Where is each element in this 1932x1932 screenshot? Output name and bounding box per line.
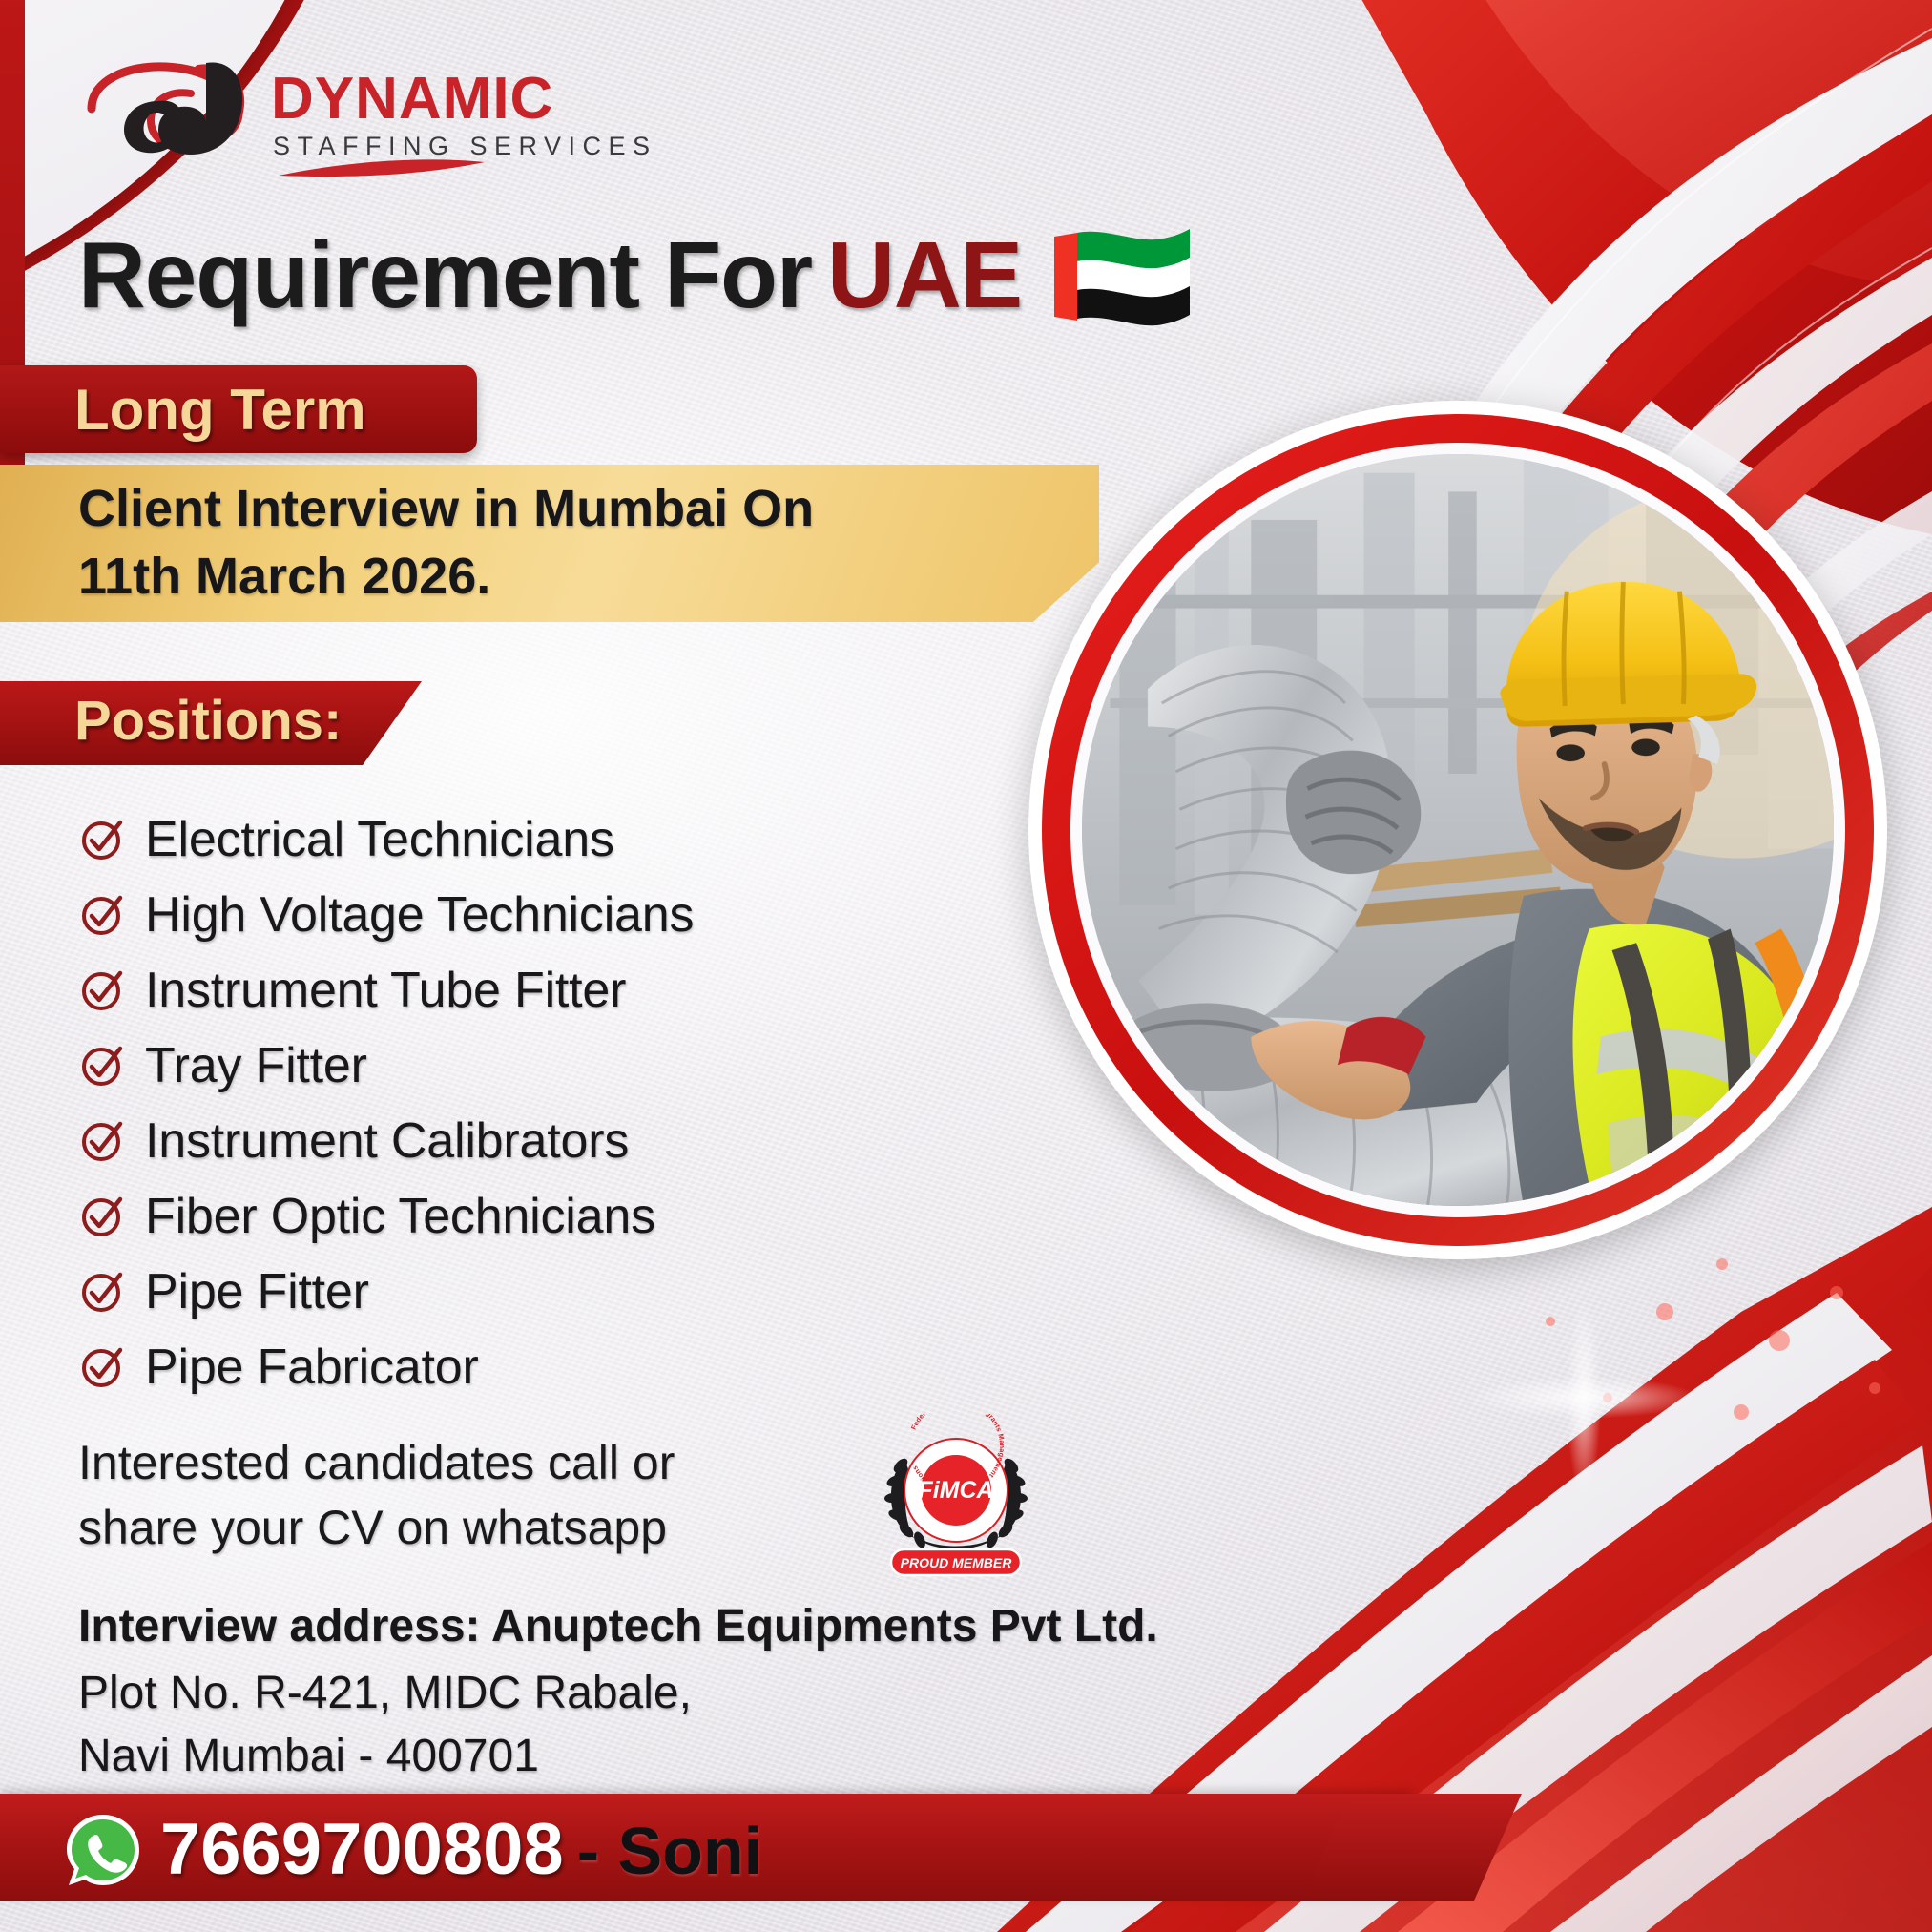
long-term-badge: Long Term	[0, 365, 477, 453]
list-item: Pipe Fitter	[80, 1254, 882, 1329]
circle-check-icon	[80, 1270, 124, 1314]
recruitment-poster: DYNAMIC STAFFING SERVICES Requirement Fo…	[0, 0, 1932, 1932]
circle-check-icon	[80, 1345, 124, 1389]
positions-list: Electrical Technicians High Voltage Tech…	[80, 801, 882, 1404]
position-label: Electrical Technicians	[145, 811, 614, 868]
uae-flag-icon	[1045, 225, 1190, 326]
position-label: Fiber Optic Technicians	[145, 1188, 655, 1245]
position-label: Instrument Tube Fitter	[145, 962, 626, 1019]
long-term-label: Long Term	[0, 377, 366, 443]
contact-person: - Soni	[577, 1813, 762, 1889]
positions-header-label: Positions:	[74, 689, 342, 753]
list-item: High Voltage Technicians	[80, 877, 882, 952]
list-item: Electrical Technicians	[80, 801, 882, 877]
position-label: Tray Fitter	[145, 1037, 367, 1094]
interview-line-1: Client Interview in Mumbai On	[78, 475, 1032, 543]
circle-check-icon	[80, 1044, 124, 1088]
interview-banner-text: Client Interview in Mumbai On 11th March…	[78, 475, 1032, 612]
fimca-proud-member-badge: Federation of Indian Emigrants Managemen…	[870, 1414, 1042, 1586]
headline-prefix: Requirement For	[78, 221, 812, 329]
interview-line-2: 11th March 2026.	[78, 543, 1032, 611]
circle-check-icon	[80, 893, 124, 937]
page-title: Requirement For UAE	[78, 221, 1190, 329]
call-to-action: Interested candidates call or share your…	[78, 1431, 861, 1560]
position-label: Instrument Calibrators	[145, 1112, 629, 1170]
list-item: Pipe Fabricator	[80, 1329, 882, 1404]
interview-address: Interview address: Anuptech Equipments P…	[78, 1595, 1319, 1789]
logo-monogram-icon	[92, 62, 242, 155]
fimca-acronym: FiMCA	[918, 1477, 993, 1504]
circle-check-icon	[80, 1119, 124, 1163]
list-item: Fiber Optic Technicians	[80, 1178, 882, 1254]
fimca-ribbon-text: PROUD MEMBER	[901, 1555, 1013, 1570]
worker-photo	[1082, 454, 1834, 1206]
headline-country: UAE	[827, 221, 1022, 329]
address-title: Interview address: Anuptech Equipments P…	[78, 1595, 1319, 1658]
phone-number[interactable]: 7669700808	[160, 1808, 564, 1891]
address-line-1: Plot No. R-421, MIDC Rabale,	[78, 1662, 1319, 1725]
list-item: Tray Fitter	[80, 1028, 882, 1103]
left-red-edge-strip	[0, 0, 25, 534]
company-logo: DYNAMIC STAFFING SERVICES	[84, 55, 618, 181]
circle-check-icon	[80, 1195, 124, 1238]
circle-check-icon	[80, 968, 124, 1012]
logo-tagline: STAFFING SERVICES	[273, 132, 657, 160]
contact-phone[interactable]: 7669700808 - Soni	[160, 1808, 762, 1891]
logo-wordmark: DYNAMIC	[271, 66, 553, 132]
position-label: Pipe Fabricator	[145, 1339, 479, 1396]
cta-line-1: Interested candidates call or	[78, 1431, 861, 1496]
address-line-2: Navi Mumbai - 400701	[78, 1725, 1319, 1788]
position-label: Pipe Fitter	[145, 1263, 369, 1320]
cta-line-2: share your CV on whatsapp	[78, 1496, 861, 1561]
worker-photo-frame	[1028, 401, 1887, 1259]
whatsapp-icon[interactable]	[63, 1811, 143, 1891]
list-item: Instrument Calibrators	[80, 1103, 882, 1178]
position-label: High Voltage Technicians	[145, 886, 694, 944]
list-item: Instrument Tube Fitter	[80, 952, 882, 1028]
circle-check-icon	[80, 818, 124, 862]
